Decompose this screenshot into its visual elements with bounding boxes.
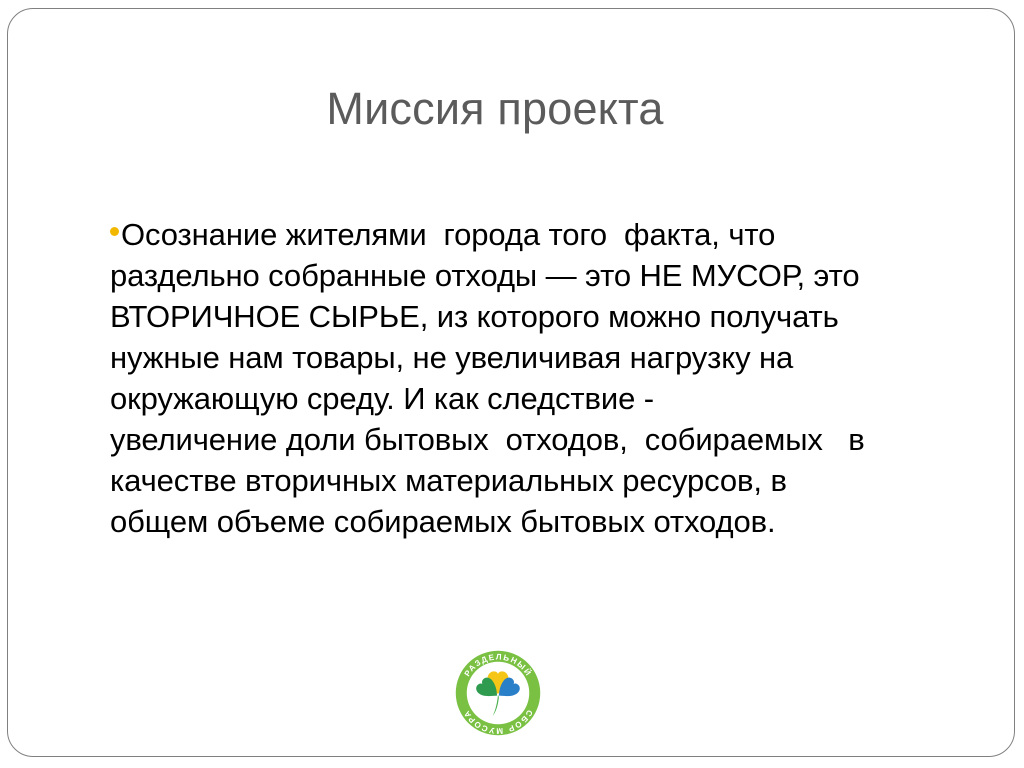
body-text-block: Осознание жителями города того факта, чт… xyxy=(110,214,955,542)
bullet-icon xyxy=(110,227,119,236)
body-line-3: ВТОРИЧНОЕ СЫРЬЕ, из которого можно получ… xyxy=(110,296,955,337)
body-line-5: окружающую среду. И как следствие - xyxy=(110,378,955,419)
body-line-1-text: Осознание жителями города того факта, чт… xyxy=(121,217,775,252)
body-line-8: общем объеме собираемых бытовых отходов. xyxy=(110,501,955,542)
presentation-slide: Миссия проекта Осознание жителями города… xyxy=(0,0,1024,768)
body-line-1: Осознание жителями города того факта, чт… xyxy=(110,214,955,255)
body-line-7: качестве вторичных материальных ресурсов… xyxy=(110,460,955,501)
razdelny-sbor-musora-logo-icon: РАЗДЕЛЬНЫЙ СБОР МУСОРА xyxy=(454,649,542,737)
body-line-6: увеличение доли бытовых отходов, собирае… xyxy=(110,419,955,460)
body-line-4: нужные нам товары, не увеличивая нагрузк… xyxy=(110,337,955,378)
title-container: Миссия проекта xyxy=(60,84,930,134)
body-line-2: раздельно собранные отходы — это НЕ МУСО… xyxy=(110,255,955,296)
logo-container: РАЗДЕЛЬНЫЙ СБОР МУСОРА xyxy=(454,649,542,737)
page-title: Миссия проекта xyxy=(60,84,930,134)
